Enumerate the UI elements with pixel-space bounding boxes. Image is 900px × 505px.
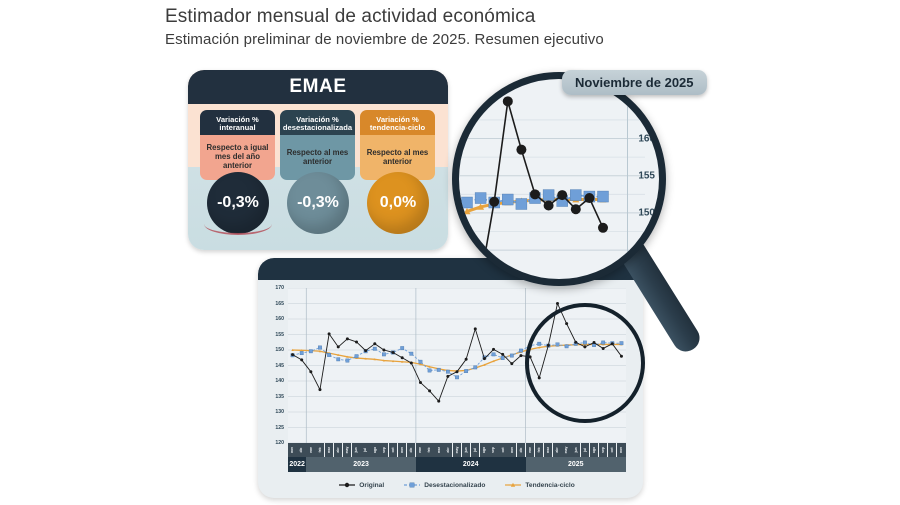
metric-value-tendencia-ciclo: 0,0%	[367, 172, 429, 234]
metric-head-line2: desestacionalizada	[283, 124, 352, 132]
month-tick: jun	[571, 443, 580, 457]
month-tick: oct	[498, 443, 507, 457]
lens-y-tick-label: 150	[638, 207, 655, 218]
metric-column-interanual: Variación % interanual Respecto a igual …	[200, 110, 275, 180]
legend-label: Original	[359, 482, 384, 489]
metric-head-tendencia-ciclo: Variación % tendencia-ciclo	[360, 110, 435, 135]
lens-y-tick-label: 155	[638, 170, 655, 181]
legend-swatch-icon	[339, 481, 355, 489]
month-tick: abr	[553, 443, 562, 457]
emae-title: EMAE	[289, 76, 346, 98]
month-tick: sep	[379, 443, 388, 457]
month-tick: jul	[581, 443, 590, 457]
month-tick: dic	[407, 443, 416, 457]
month-tick: sep	[489, 443, 498, 457]
metric-column-tendencia-ciclo: Variación % tendencia-ciclo Respecto al …	[360, 110, 435, 180]
month-tick: mar	[434, 443, 443, 457]
y-tick-label: 160	[275, 316, 284, 322]
month-tick: jun	[462, 443, 471, 457]
month-tick: feb	[535, 443, 544, 457]
year-band-2024: 2024	[416, 457, 526, 472]
month-tick: feb	[315, 443, 324, 457]
legend-item-desestacionalizado[interactable]: Desestacionalizado	[404, 481, 485, 489]
month-tick: nov	[507, 443, 516, 457]
year-band-2023: 2023	[306, 457, 416, 472]
magnified-series-svg	[459, 79, 645, 265]
month-tick: ene	[306, 443, 315, 457]
month-tick: abr	[443, 443, 452, 457]
month-tick: may	[453, 443, 462, 457]
magnifier-lens: 160155150145	[452, 72, 666, 286]
month-tick: jul	[361, 443, 370, 457]
legend-swatch-icon	[505, 481, 521, 489]
month-tick: dic	[297, 443, 306, 457]
metric-column-desestacionalizada: Variación % desestacionalizada Respecto …	[280, 110, 355, 180]
month-tick: ene	[416, 443, 425, 457]
metric-head-line2: interanual	[219, 124, 255, 132]
legend-swatch-icon	[404, 481, 420, 489]
metric-head-desestacionalizada: Variación % desestacionalizada	[280, 110, 355, 135]
legend-label: Desestacionalizado	[424, 482, 485, 489]
y-tick-label: 130	[275, 409, 284, 415]
month-tick: feb	[425, 443, 434, 457]
year-band-2022: 2022	[288, 457, 306, 472]
month-tick: may	[562, 443, 571, 457]
lens-y-tick-label: 145	[638, 245, 655, 256]
y-tick-label: 145	[275, 363, 284, 369]
metric-head-interanual: Variación % interanual	[200, 110, 275, 135]
month-tick: ago	[370, 443, 379, 457]
y-tick-label: 155	[275, 332, 284, 338]
month-tick: nov	[288, 443, 297, 457]
chart-legend: OriginalDesestacionalizadoTendencia-cicl…	[288, 477, 626, 493]
month-tick: dic	[517, 443, 526, 457]
month-tick: mar	[544, 443, 553, 457]
metric-value-desestacionalizada: -0,3%	[287, 172, 349, 234]
y-tick-label: 170	[275, 285, 284, 291]
date-badge: Noviembre de 2025	[562, 70, 707, 95]
emae-card-header: EMAE	[188, 70, 448, 104]
legend-item-original[interactable]: Original	[339, 481, 384, 489]
lens-y-tick-label: 160	[638, 133, 655, 144]
chart-y-axis: 170165160155150145140135130125120	[258, 288, 286, 443]
legend-label: Tendencia-ciclo	[525, 482, 574, 489]
year-band-2025: 2025	[526, 457, 626, 472]
y-tick-label: 165	[275, 301, 284, 307]
month-tick: oct	[608, 443, 617, 457]
month-tick: jul	[471, 443, 480, 457]
y-tick-label: 135	[275, 394, 284, 400]
decorative-swoosh	[204, 213, 272, 235]
month-tick: ago	[590, 443, 599, 457]
month-tick: abr	[334, 443, 343, 457]
page-subtitle: Estimación preliminar de noviembre de 20…	[165, 31, 604, 48]
magnifier-lens-content: 160155150145	[459, 79, 659, 279]
magnifier-graphic: 160155150145 Noviembre de 2025	[452, 72, 742, 402]
legend-item-tendencia-ciclo[interactable]: Tendencia-ciclo	[505, 481, 574, 489]
infographic-canvas: Estimador mensual de actividad económica…	[0, 0, 900, 505]
month-tick: may	[343, 443, 352, 457]
month-tick: mar	[325, 443, 334, 457]
chart-year-axis: 2022202320242025	[288, 457, 626, 472]
month-tick: ago	[480, 443, 489, 457]
chart-month-axis: novdicenefebmarabrmayjunjulagosepoctnovd…	[288, 443, 626, 457]
magnified-axis-line	[627, 79, 628, 279]
month-tick: sep	[599, 443, 608, 457]
month-tick: ene	[526, 443, 535, 457]
metric-head-line2: tendencia-ciclo	[370, 124, 425, 132]
y-tick-label: 140	[275, 378, 284, 384]
y-tick-label: 150	[275, 347, 284, 353]
emae-card: EMAE Variación % interanual Respecto a i…	[188, 70, 448, 250]
page-title: Estimador mensual de actividad económica	[165, 6, 535, 28]
month-tick: oct	[389, 443, 398, 457]
month-tick: nov	[398, 443, 407, 457]
y-tick-label: 120	[275, 440, 284, 446]
y-tick-label: 125	[275, 425, 284, 431]
month-tick: jun	[352, 443, 361, 457]
month-tick: nov	[617, 443, 626, 457]
